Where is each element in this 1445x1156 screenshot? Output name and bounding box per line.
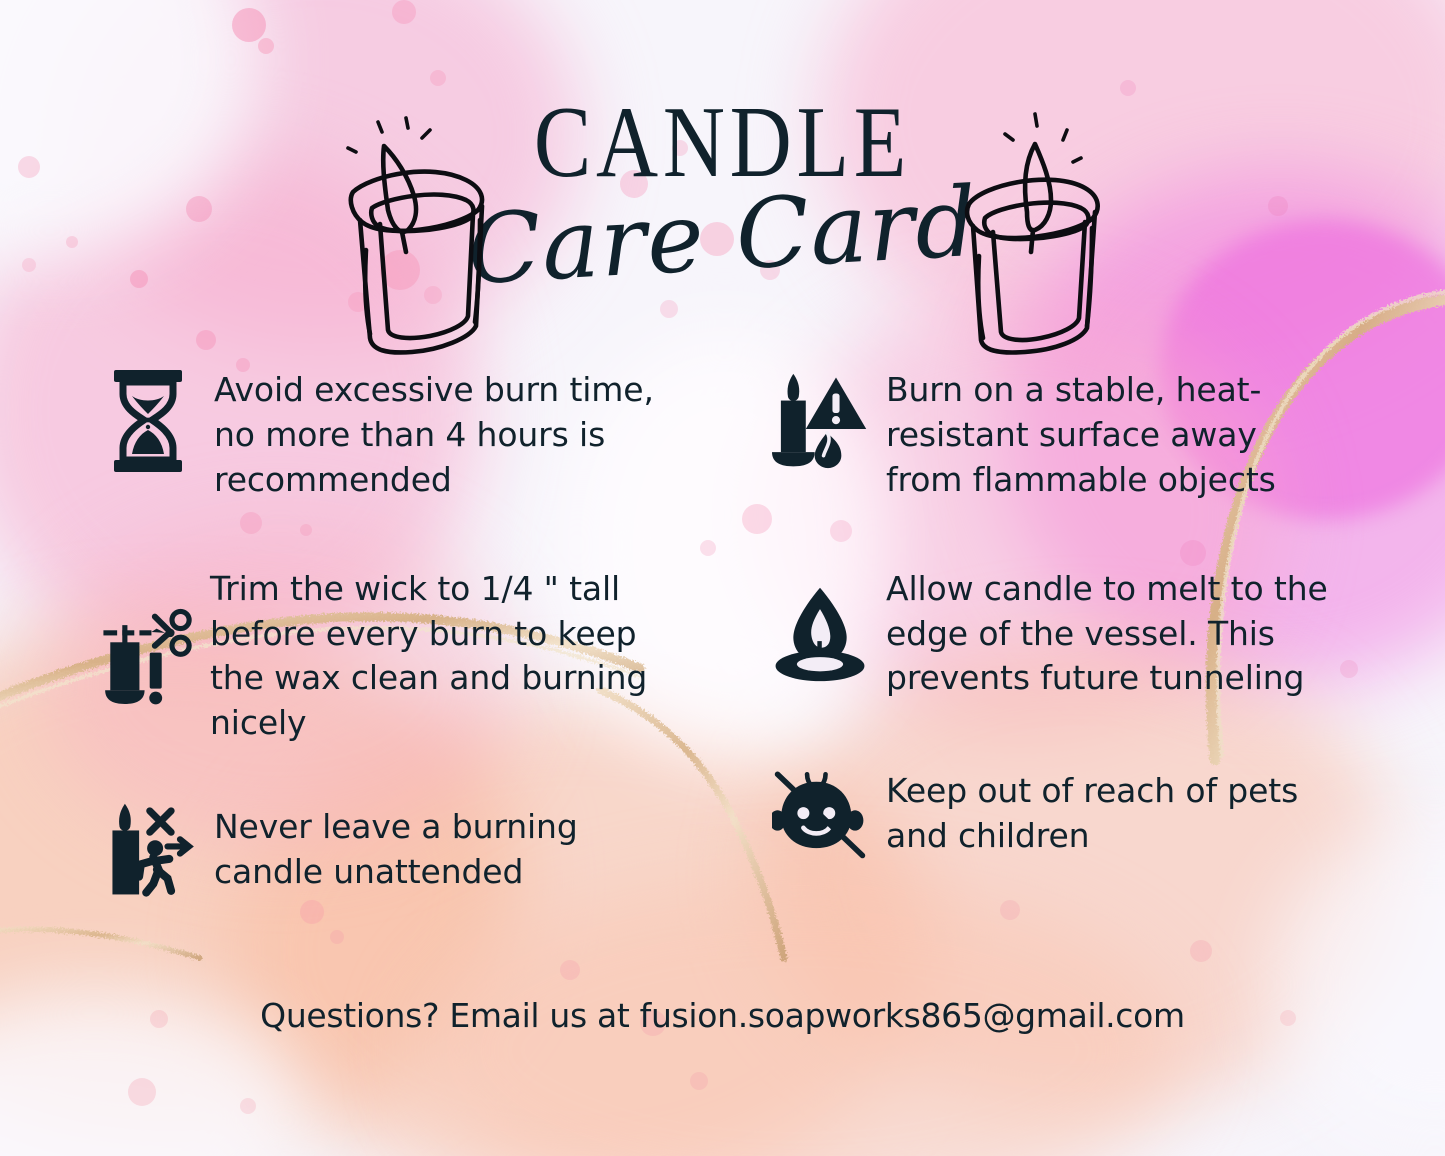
ink-bubble (392, 0, 416, 24)
tip-text: Avoid excessive burn time, no more than … (214, 368, 684, 503)
trim-wick-scissors-icon (100, 600, 196, 712)
left-candle-illustration (330, 100, 505, 355)
ink-highlight-right-edge (1270, 820, 1445, 1150)
tip-melt-to-edge: Allow candle to melt to the edge of the … (772, 567, 1372, 702)
tip-text: Keep out of reach of pets and children (886, 769, 1326, 859)
tip-text: Trim the wick to 1/4 " tall before every… (210, 567, 680, 747)
ink-bubble (660, 300, 678, 318)
tips-column-right: Burn on a stable, heat-resistant surface… (772, 368, 1372, 863)
ink-bubble (1120, 80, 1136, 96)
ink-bubble (700, 540, 716, 556)
no-children-pets-icon (772, 765, 868, 863)
tip-avoid-burn-time: Avoid excessive burn time, no more than … (100, 368, 700, 503)
footer-contact: Questions? Email us at fusion.soapworks8… (0, 996, 1445, 1035)
candle-care-card: CANDLE Care Card (0, 0, 1445, 1156)
tip-text: Burn on a stable, heat-resistant surface… (886, 368, 1316, 503)
ink-bubble (300, 900, 324, 924)
ink-bubble (258, 38, 274, 54)
hourglass-icon (100, 368, 196, 474)
ink-bubble (196, 330, 216, 350)
tips-column-left: Avoid excessive burn time, no more than … (100, 368, 700, 902)
tip-keep-out-of-reach: Keep out of reach of pets and children (772, 765, 1372, 863)
right-candle-illustration (935, 100, 1110, 355)
ink-bubble (560, 960, 580, 980)
tip-stable-surface: Burn on a stable, heat-resistant surface… (772, 368, 1372, 503)
ink-bubble (742, 504, 772, 534)
candle-warning-heat-icon (772, 368, 868, 474)
tip-never-unattended: Never leave a burning candle unattended (100, 798, 700, 902)
ink-bubble (232, 8, 266, 42)
unattended-candle-icon (100, 798, 196, 902)
ink-bubble (1000, 900, 1020, 920)
ink-bubble (240, 1098, 256, 1114)
tealight-flame-icon (772, 580, 868, 688)
ink-bubble (1190, 940, 1212, 962)
tip-trim-wick: Trim the wick to 1/4 " tall before every… (100, 567, 700, 747)
ink-bubble (128, 1078, 156, 1106)
tip-text: Allow candle to melt to the edge of the … (886, 567, 1336, 702)
ink-bubble (430, 70, 446, 86)
ink-bubble (330, 930, 344, 944)
tip-text: Never leave a burning candle unattended (214, 805, 654, 895)
ink-bubble (690, 1072, 708, 1090)
